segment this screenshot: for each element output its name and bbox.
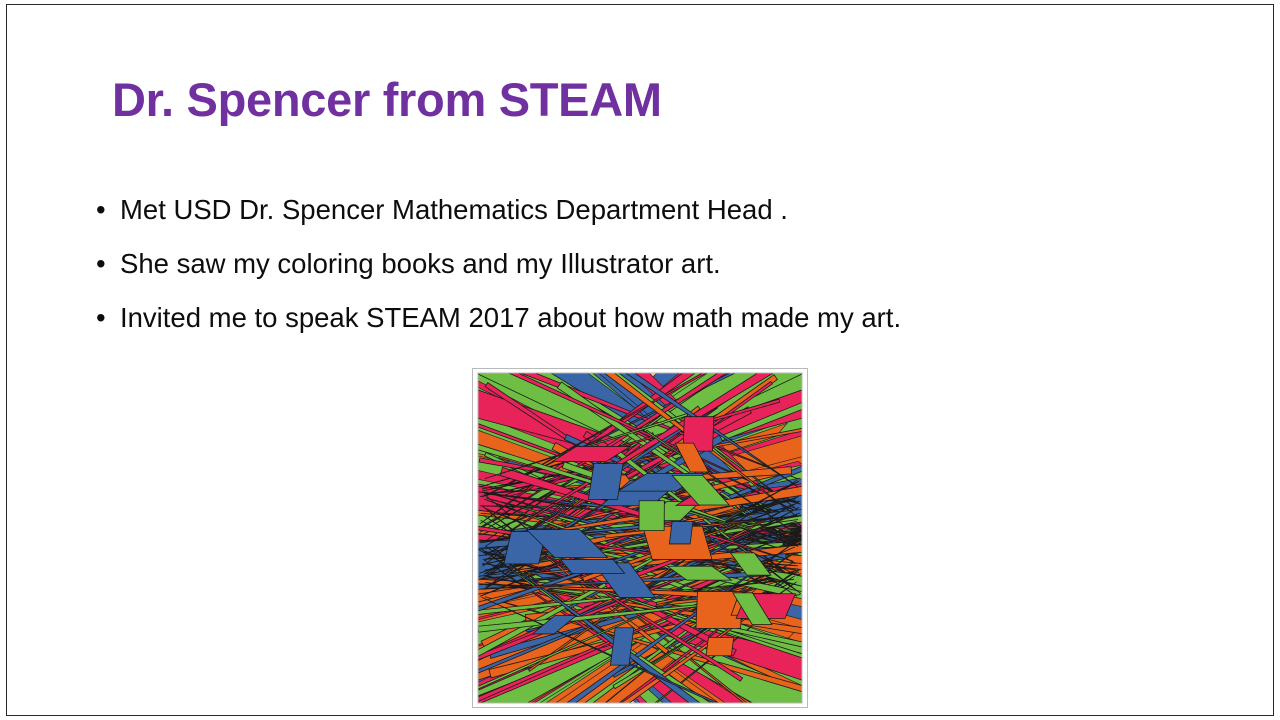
list-item: • Invited me to speak STEAM 2017 about h… — [96, 304, 1216, 358]
bullet-text: Met USD Dr. Spencer Mathematics Departme… — [120, 196, 1216, 224]
bullet-marker-icon: • — [96, 304, 120, 332]
list-item: • She saw my coloring books and my Illus… — [96, 250, 1216, 304]
bullet-list: • Met USD Dr. Spencer Mathematics Depart… — [96, 196, 1216, 358]
bullet-marker-icon: • — [96, 250, 120, 278]
bullet-text: Invited me to speak STEAM 2017 about how… — [120, 304, 1216, 332]
page-title: Dr. Spencer from STEAM — [112, 75, 1172, 126]
geometric-strip-artwork — [472, 368, 808, 708]
slide: Dr. Spencer from STEAM • Met USD Dr. Spe… — [0, 0, 1280, 720]
bullet-text: She saw my coloring books and my Illustr… — [120, 250, 1216, 278]
bullet-marker-icon: • — [96, 196, 120, 224]
artwork-canvas — [473, 369, 807, 707]
list-item: • Met USD Dr. Spencer Mathematics Depart… — [96, 196, 1216, 250]
